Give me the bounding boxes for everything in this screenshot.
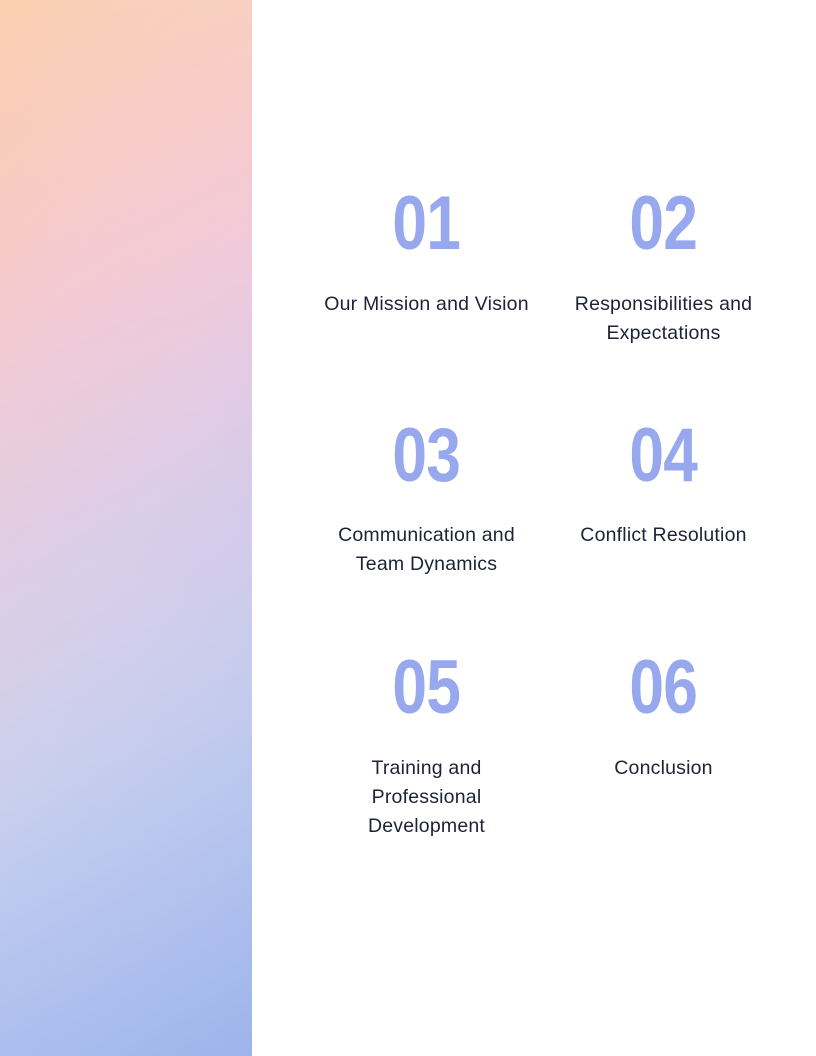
toc-entry-01[interactable]: 01 Our Mission and Vision (310, 186, 543, 418)
toc-label-05: Training and Professional Development (319, 754, 534, 841)
toc-number-04: 04 (630, 418, 698, 494)
toc-number-02: 02 (630, 186, 698, 262)
toc-entry-03[interactable]: 03 Communication and Team Dynamics (310, 418, 543, 650)
toc-label-02: Responsibilities and Expectations (549, 290, 779, 348)
toc-label-04: Conflict Resolution (580, 521, 746, 550)
toc-number-01: 01 (393, 186, 461, 262)
toc-entry-04[interactable]: 04 Conflict Resolution (547, 418, 780, 650)
table-of-contents-page: TABLE OF CONTENTS 01 Our Mission and Vis… (0, 0, 816, 1056)
content-area: 01 Our Mission and Vision 02 Responsibil… (252, 0, 816, 1056)
toc-number-03: 03 (393, 418, 461, 494)
toc-entry-02[interactable]: 02 Responsibilities and Expectations (547, 186, 780, 418)
toc-entry-05[interactable]: 05 Training and Professional Development (310, 650, 543, 882)
toc-label-03: Communication and Team Dynamics (319, 521, 534, 579)
toc-entry-06[interactable]: 06 Conclusion (547, 650, 780, 882)
sidebar-title-container: TABLE OF CONTENTS (0, 0, 252, 1056)
toc-label-01: Our Mission and Vision (324, 290, 529, 319)
toc-number-05: 05 (393, 650, 461, 726)
sidebar-gradient-panel: TABLE OF CONTENTS (0, 0, 252, 1056)
toc-number-06: 06 (630, 650, 698, 726)
toc-grid: 01 Our Mission and Vision 02 Responsibil… (310, 186, 780, 882)
toc-label-06: Conclusion (614, 754, 712, 783)
